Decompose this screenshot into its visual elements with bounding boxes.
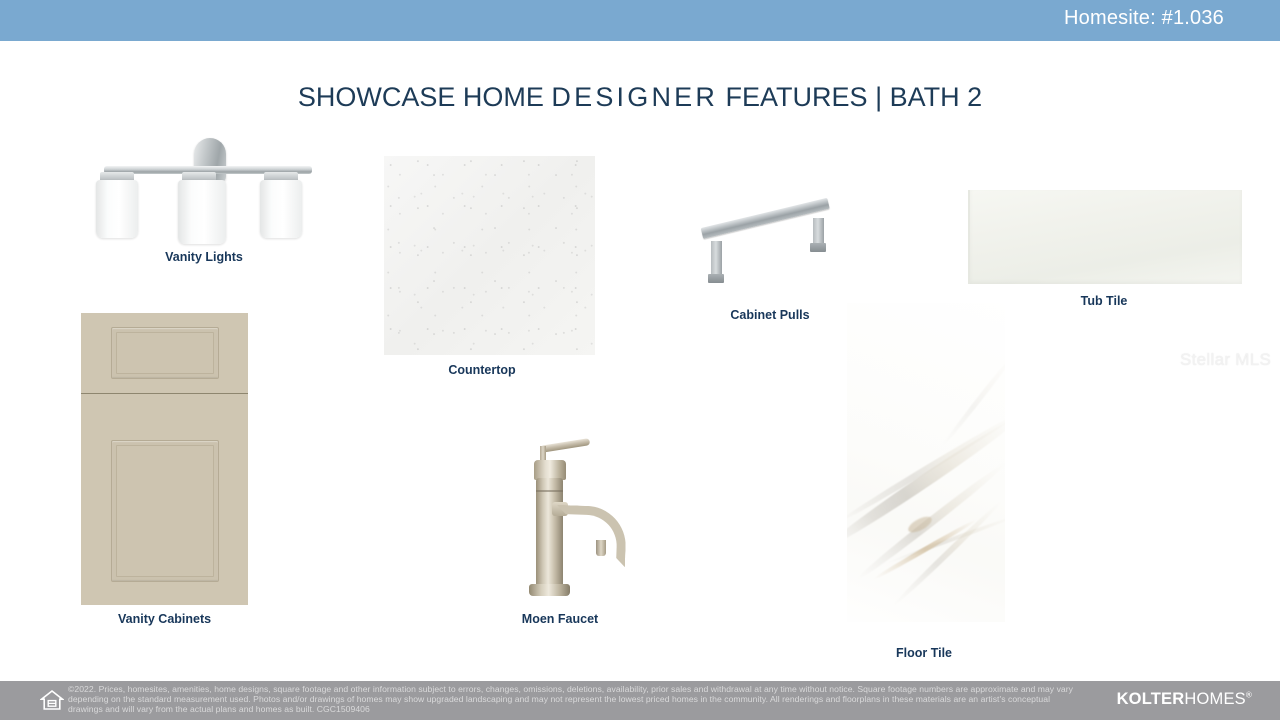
cabinet-drawer-front [81, 313, 248, 394]
pull-leg-left [711, 241, 722, 277]
page-title-part2: FEATURES | BATH 2 [718, 82, 982, 112]
header-bar: Homesite: #1.036 [0, 0, 1280, 41]
label-countertop: Countertop [438, 363, 526, 377]
logo-homes: HOMES [1184, 690, 1246, 708]
label-floor-tile: Floor Tile [880, 646, 968, 660]
faucet-spout [555, 505, 627, 567]
pull-leg-right [813, 218, 824, 246]
page-title-designer: DESIGNER [551, 82, 718, 112]
door-panel-inner [116, 445, 214, 577]
logo-kolter: KOLTER [1117, 690, 1185, 708]
equal-housing-opportunity-icon [40, 689, 64, 711]
light-shade [178, 180, 226, 244]
faucet-base [529, 584, 570, 596]
faucet-cap [534, 460, 566, 480]
vanity-lights-image [92, 138, 320, 240]
floor-tile-image [847, 303, 1005, 622]
vanity-cabinet-image [81, 313, 248, 605]
pull-foot-right [810, 243, 826, 252]
moen-faucet-image [512, 434, 624, 602]
stellar-mls-watermark: Stellar MLS [1180, 350, 1271, 370]
countertop-image [384, 156, 595, 355]
cabinet-pull-image [700, 218, 836, 288]
pull-bar [701, 198, 830, 239]
logo-registered-mark: ® [1246, 691, 1252, 700]
faucet-spout-tip [596, 540, 606, 556]
pull-foot-left [708, 274, 724, 283]
faucet-seam [536, 490, 563, 492]
label-tub-tile: Tub Tile [1060, 294, 1148, 308]
drawer-panel-inner [116, 332, 214, 374]
homesite-number: Homesite: #1.036 [1064, 7, 1224, 30]
light-shade [96, 180, 138, 238]
faucet-handle [540, 438, 590, 453]
label-vanity-lights: Vanity Lights [160, 250, 248, 264]
page-title: SHOWCASE HOME DESIGNER FEATURES | BATH 2 [0, 82, 1280, 113]
light-shade [260, 180, 302, 238]
label-cabinet-pulls: Cabinet Pulls [726, 308, 814, 322]
footer-disclaimer: ©2022. Prices, homesites, amenities, hom… [68, 684, 1083, 715]
label-vanity-cabinets: Vanity Cabinets [118, 612, 206, 626]
label-moen-faucet: Moen Faucet [516, 612, 604, 626]
marble-vein [847, 409, 1005, 523]
tub-tile-image [968, 190, 1242, 284]
page-title-part1: SHOWCASE HOME [298, 82, 552, 112]
cabinet-door-front [81, 395, 248, 605]
kolter-homes-logo: KOLTERHOMES® [1117, 690, 1252, 709]
